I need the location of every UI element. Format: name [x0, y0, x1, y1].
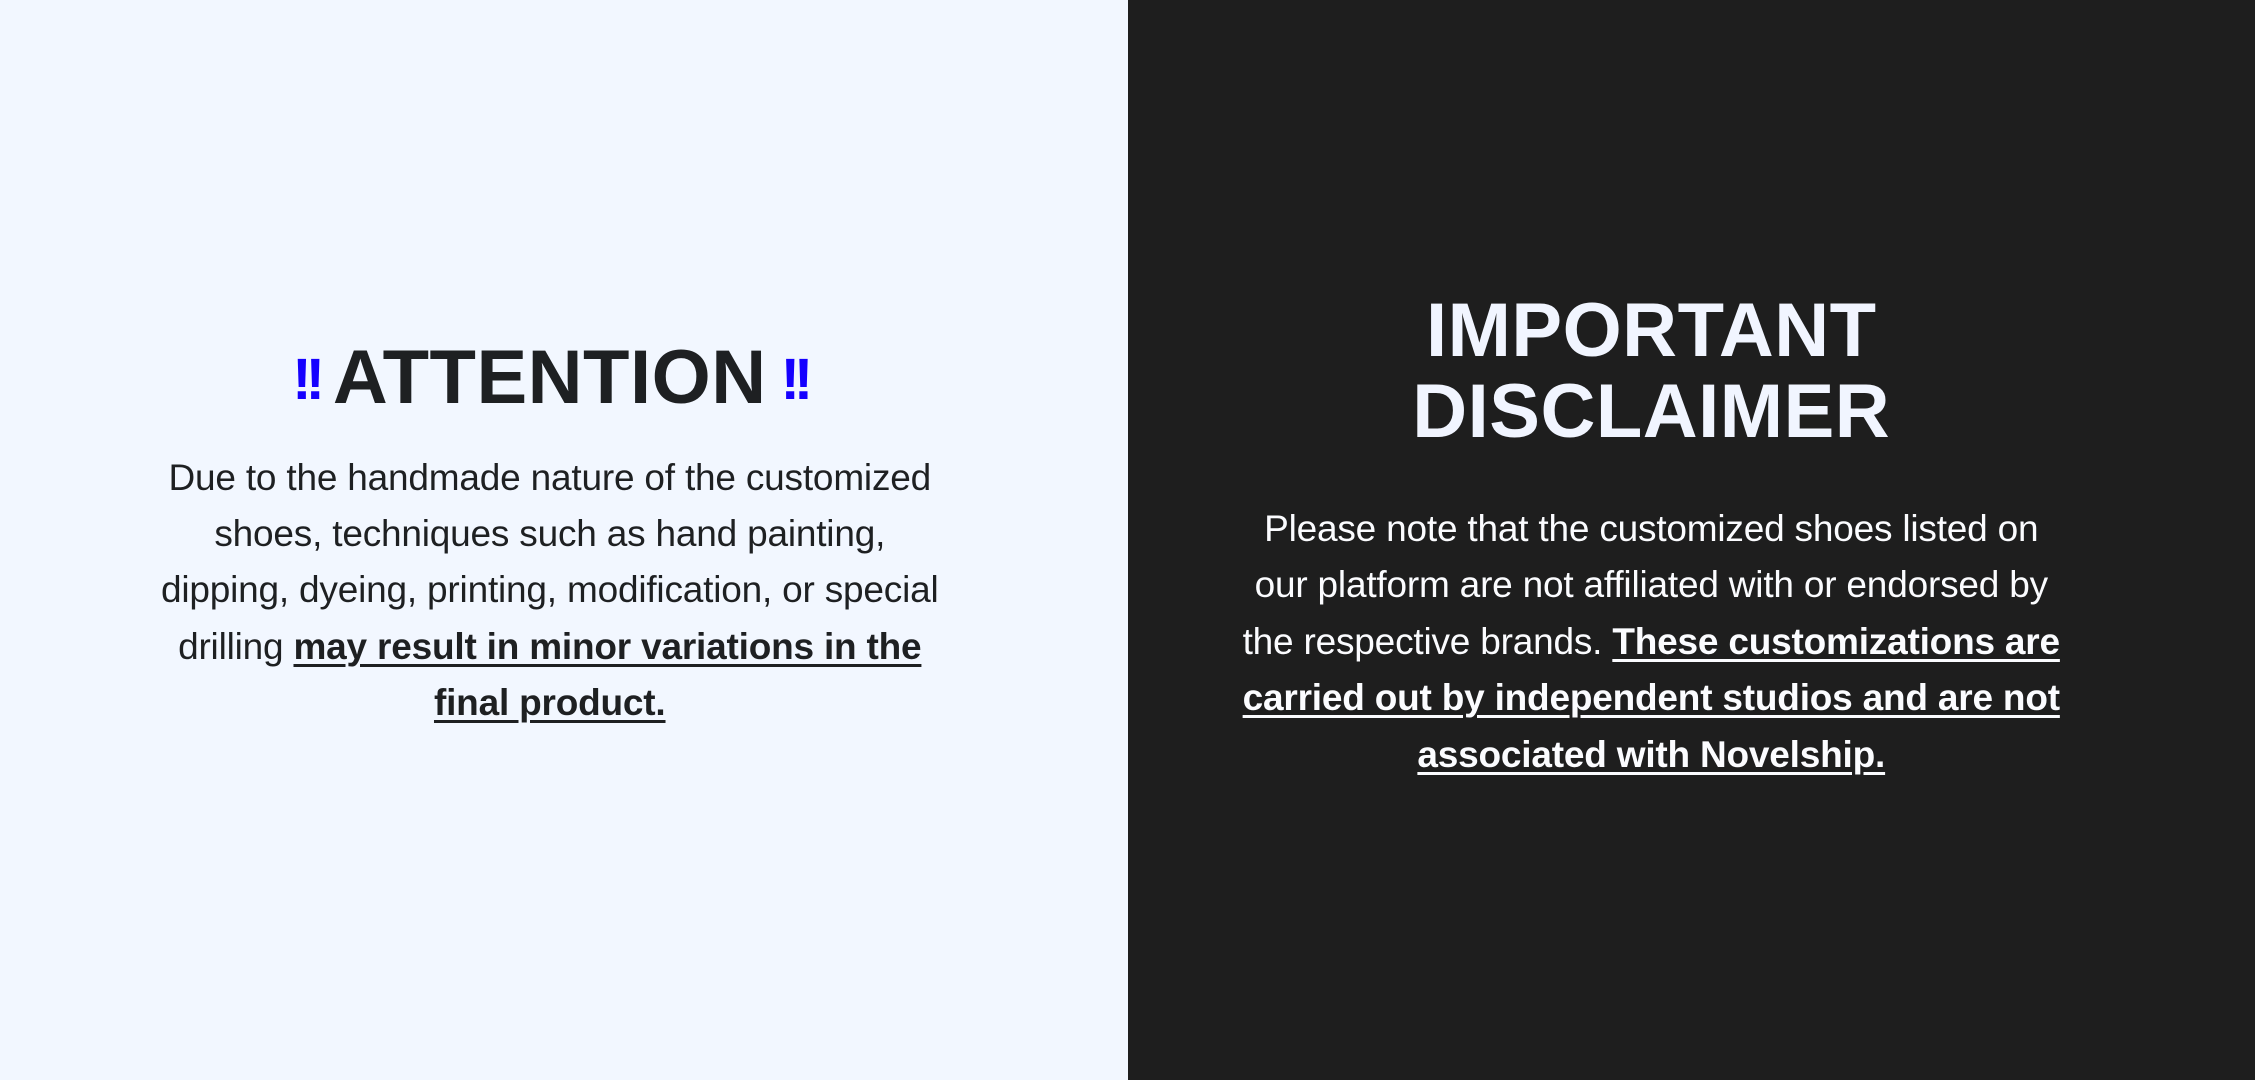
- attention-heading: !!ATTENTION!!: [278, 340, 821, 416]
- disclaimer-banner: !!ATTENTION!! Due to the handmade nature…: [0, 0, 2255, 1080]
- exclamation-left-icon: !!: [292, 351, 319, 409]
- exclamation-right-icon: !!: [781, 351, 808, 409]
- disclaimer-heading-line1: IMPORTANT: [1426, 288, 1877, 373]
- disclaimer-heading-line2: DISCLAIMER: [1412, 369, 1890, 454]
- disclaimer-body: Please note that the customized shoes li…: [1241, 501, 2061, 784]
- disclaimer-heading: IMPORTANT DISCLAIMER: [1271, 290, 2031, 453]
- disclaimer-content: IMPORTANT DISCLAIMER Please note that th…: [1128, 0, 2255, 1080]
- attention-panel: !!ATTENTION!! Due to the handmade nature…: [0, 0, 1128, 1080]
- disclaimer-panel: IMPORTANT DISCLAIMER Please note that th…: [1128, 0, 2255, 1080]
- attention-heading-title: ATTENTION: [333, 335, 767, 420]
- attention-body: Due to the handmade nature of the custom…: [150, 450, 950, 731]
- attention-content: !!ATTENTION!! Due to the handmade nature…: [0, 0, 1128, 1080]
- attention-body-emphasis: may result in minor variations in the fi…: [293, 626, 921, 723]
